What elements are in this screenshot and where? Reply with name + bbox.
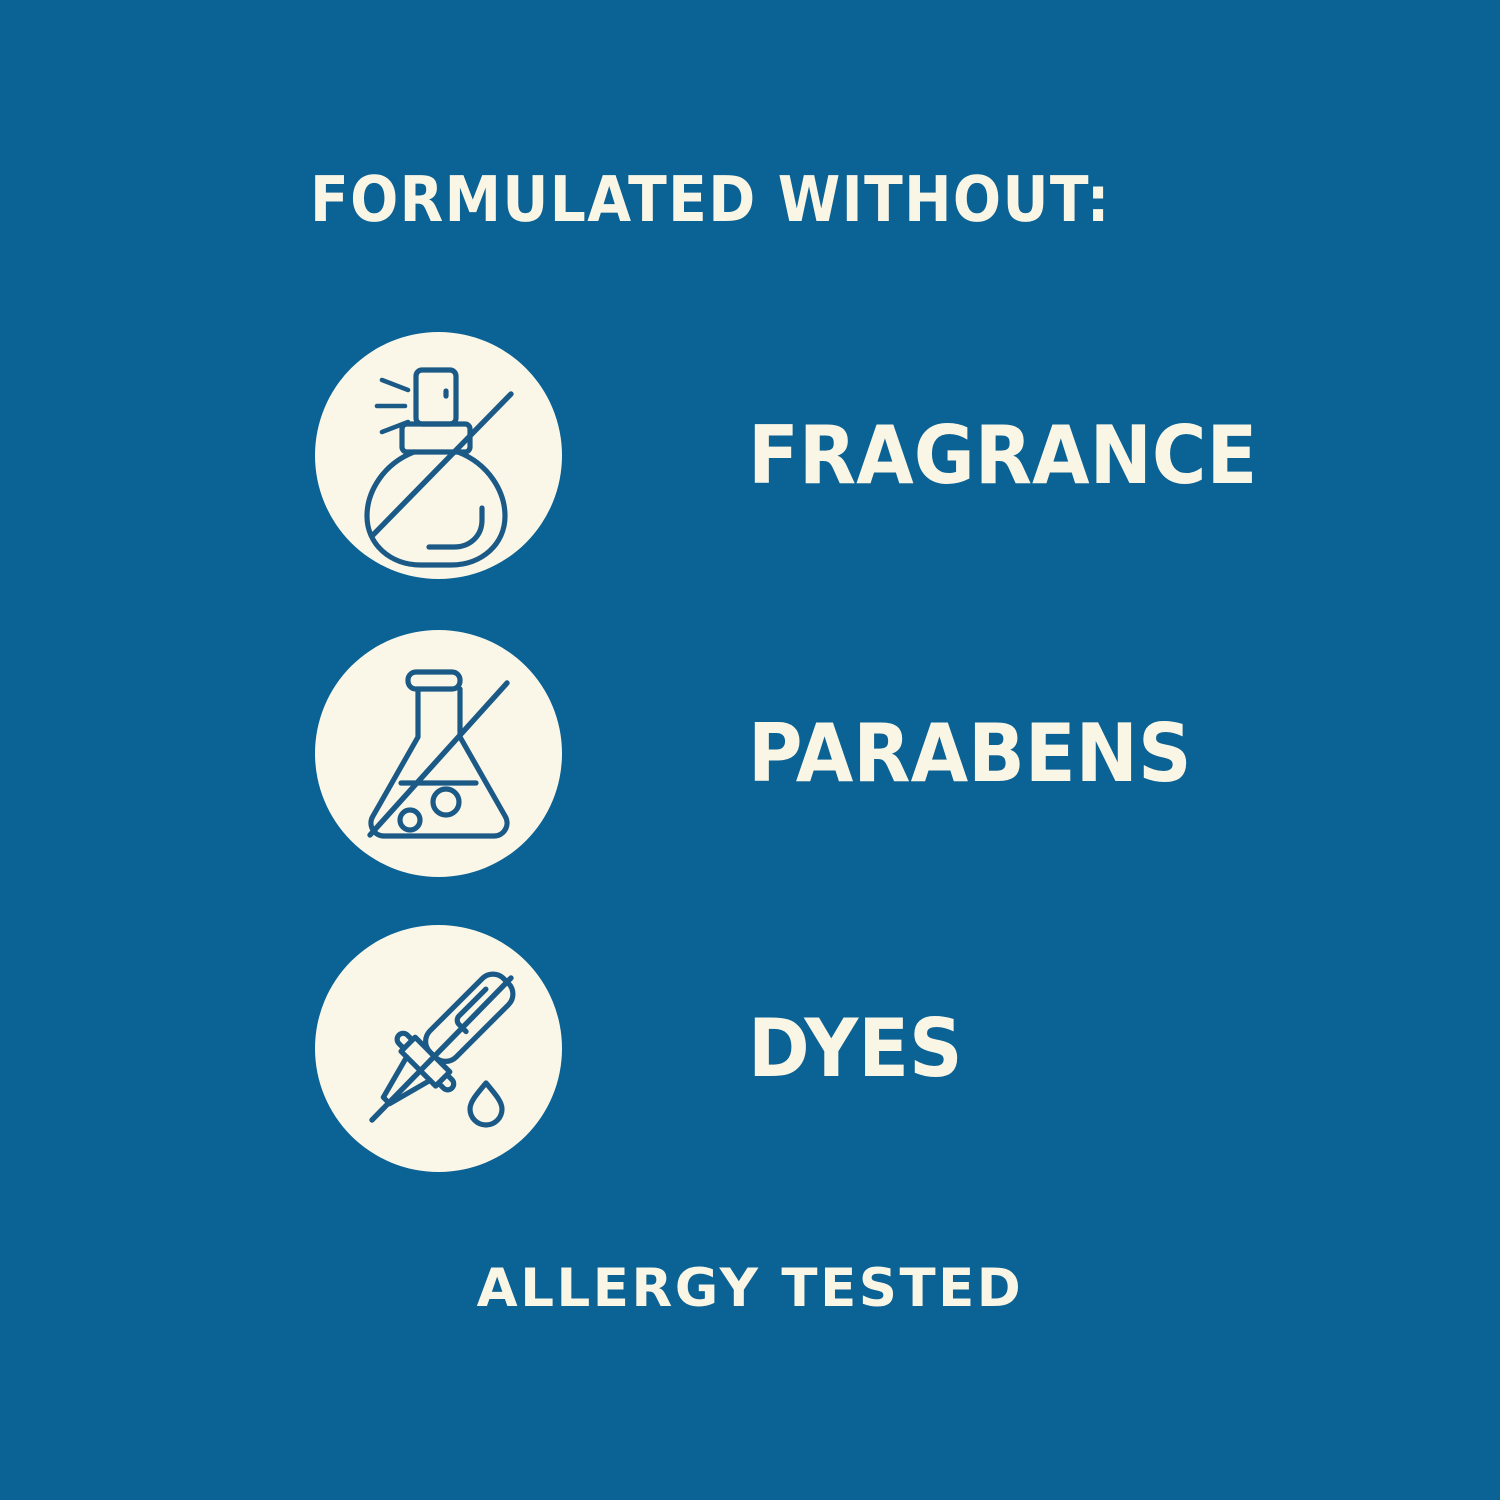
flask-bubble-large	[433, 789, 459, 815]
list-item-label-dyes: DYES	[748, 925, 963, 1172]
list-item: DYES	[0, 925, 1500, 1175]
flask-rim	[408, 672, 460, 689]
dropper-tip	[375, 1057, 430, 1112]
badge-dyes	[315, 925, 562, 1172]
no-erlenmeyer-flask-icon	[315, 630, 562, 877]
list-item-label-fragrance: FRAGRANCE	[748, 332, 1257, 579]
allergy-tested-note: ALLERGY TESTED	[0, 1262, 1500, 1315]
list-item-label-parabens: PARABENS	[748, 630, 1192, 877]
badge-fragrance	[315, 332, 562, 579]
no-dropper-pipette-icon	[315, 925, 562, 1172]
badge-parabens	[315, 630, 562, 877]
no-perfume-bottle-icon	[315, 332, 562, 579]
formulated-without-poster: FORMULATED WITHOUT:	[0, 0, 1500, 1500]
list-item: FRAGRANCE	[0, 332, 1500, 582]
dye-droplet	[470, 1083, 502, 1125]
list-item: PARABENS	[0, 630, 1500, 880]
flask-bubble-small	[400, 810, 420, 830]
page-title: FORMULATED WITHOUT:	[310, 168, 1111, 231]
nozzle-cap	[416, 370, 456, 424]
bottle-highlight	[429, 508, 482, 547]
slash-line	[372, 978, 511, 1120]
